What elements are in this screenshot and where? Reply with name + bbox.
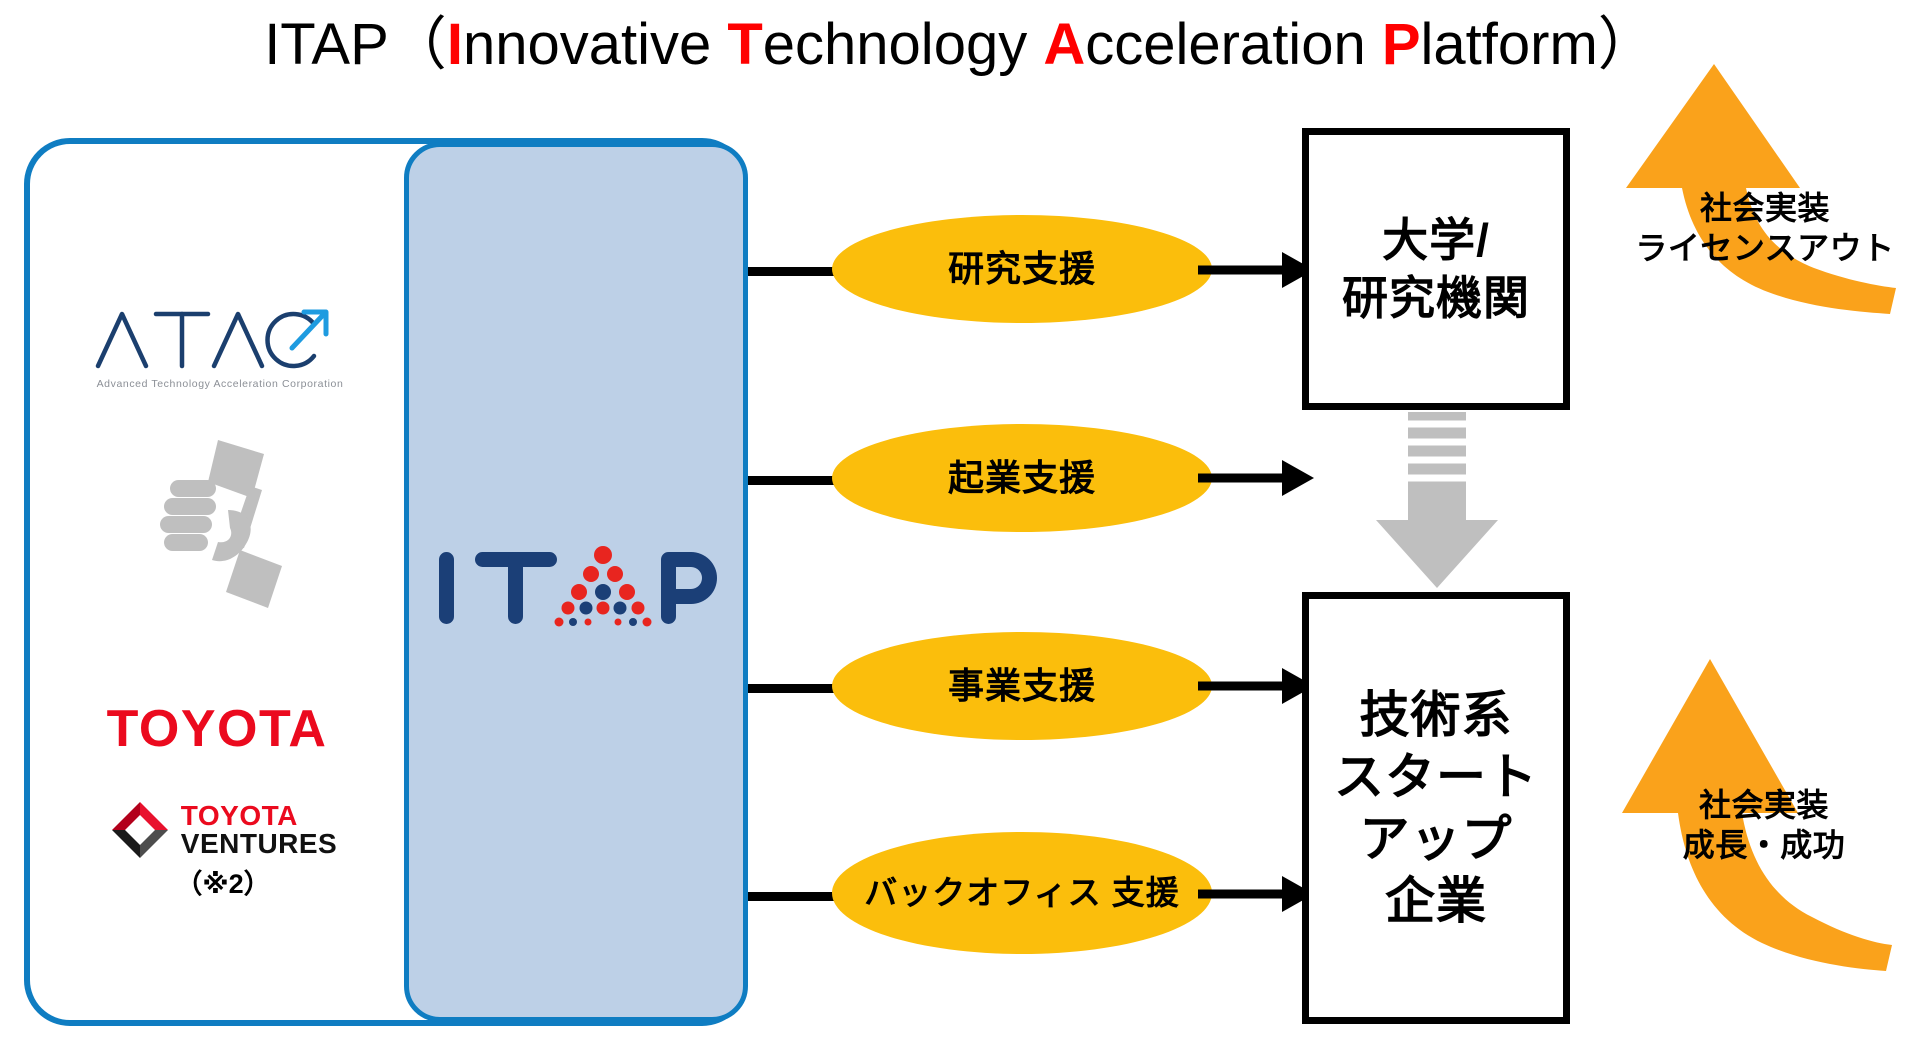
target-box-label: 技術系 スタートアップ 企業 [1309, 684, 1563, 932]
support-ellipse-backoffice[interactable]: バックオフィス 支援 [832, 832, 1212, 954]
handshake-icon [132, 432, 302, 612]
support-label: 研究支援 [948, 246, 1096, 292]
orange-callout-license-out: 社会実装 ライセンスアウト [1620, 148, 1910, 268]
support-ellipse-business[interactable]: 事業支援 [832, 632, 1212, 740]
toyota-ventures-bottom: VENTURES [181, 830, 337, 858]
arrow-backoffice-to-startup [1196, 864, 1316, 924]
support-label: バックオフィス 支援 [864, 872, 1180, 914]
title-cap-p: P [1382, 12, 1421, 77]
atac-logo [92, 290, 342, 390]
title-word-acceleration: cceleration [1085, 12, 1382, 77]
arrow-business-to-startup [1196, 656, 1316, 716]
support-ellipse-research[interactable]: 研究支援 [832, 215, 1212, 323]
orange-callout-growth-success: 社会実装 成長・成功 [1614, 745, 1914, 865]
orange-callout-label: 社会実装 ライセンスアウト [1635, 190, 1894, 266]
target-box-label: 大学/ 研究機関 [1342, 211, 1530, 327]
orange-callout-label: 社会実装 成長・成功 [1683, 787, 1846, 863]
support-label: 起業支援 [948, 455, 1096, 501]
toyota-ventures-top: TOYOTA [181, 802, 337, 830]
title-cap-t: T [727, 12, 762, 77]
atac-logo-svg [92, 290, 342, 390]
target-box-tech-startup[interactable]: 技術系 スタートアップ 企業 [1302, 592, 1570, 1024]
toyota-ventures-text: TOYOTA VENTURES [181, 802, 337, 858]
handshake-icon-svg [132, 432, 302, 612]
gray-down-arrow-icon [1372, 412, 1502, 592]
support-ellipse-startup[interactable]: 起業支援 [832, 424, 1212, 532]
title-cap-i: I [447, 12, 463, 77]
title-prefix: ITAP（ [264, 12, 447, 77]
arrow-startup-to-university [1196, 448, 1316, 508]
arrow-research-to-university [1196, 240, 1316, 300]
itap-logo-svg [431, 522, 721, 642]
title-word-innovative: nnovative [463, 12, 727, 77]
atac-tagline: Advanced Technology Acceleration Corpora… [92, 378, 348, 390]
itap-brand-panel [404, 142, 748, 1022]
title-cap-a: A [1043, 12, 1085, 77]
itap-logo [431, 522, 721, 642]
toyota-ventures-logo: TOYOTA VENTURES [78, 790, 368, 870]
target-box-university[interactable]: 大学/ 研究機関 [1302, 128, 1570, 410]
toyota-ventures-diamond-icon [109, 799, 171, 861]
toyota-logo: TOYOTA [72, 700, 362, 758]
title-word-technology: echnology [763, 12, 1044, 77]
itap-a-dots [555, 546, 652, 627]
support-label: 事業支援 [948, 663, 1096, 709]
footnote-note2: （※2） [78, 862, 368, 901]
